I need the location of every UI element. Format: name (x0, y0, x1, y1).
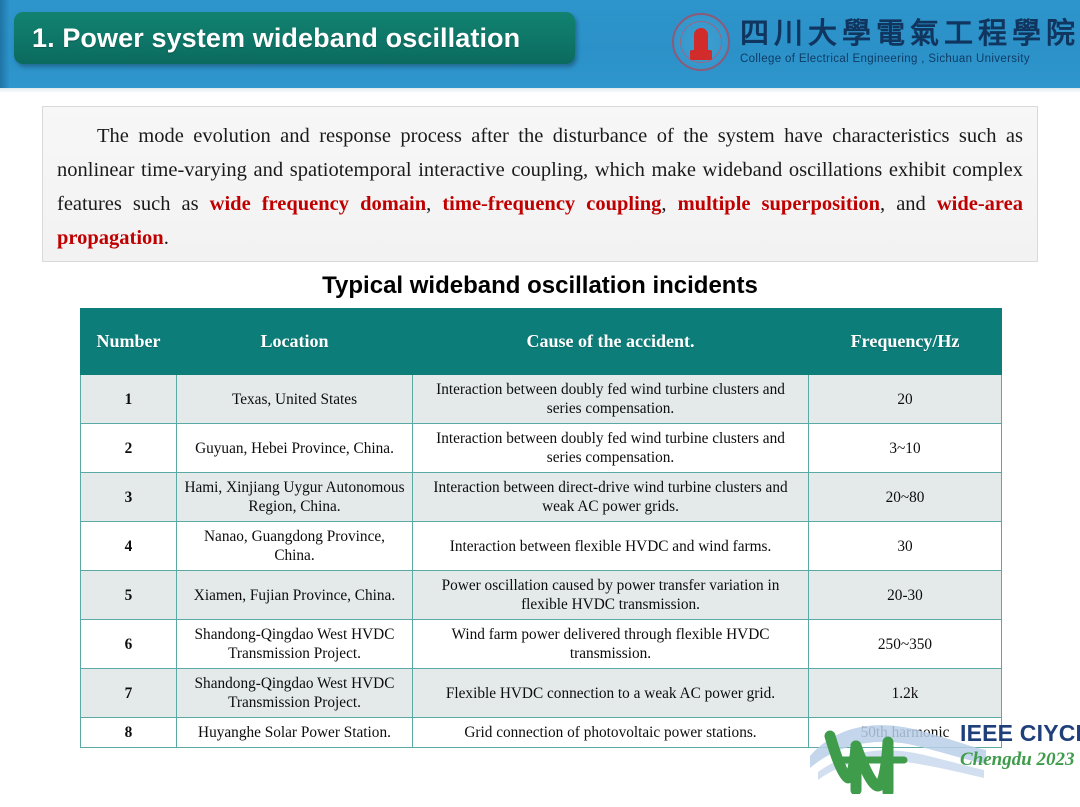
university-name-block: 四川大學電氣工程學院 College of Electrical Enginee… (730, 19, 1080, 64)
cell-location: Shandong-Qingdao West HVDC Transmission … (177, 669, 413, 718)
section-title-box: 1. Power system wideband oscillation (14, 12, 575, 64)
intro-paragraph: The mode evolution and response process … (57, 119, 1023, 255)
table-title: Typical wideband oscillation incidents (0, 272, 1080, 300)
slide-canvas: 1. Power system wideband oscillation 四川大… (0, 0, 1080, 807)
cell-number: 4 (81, 522, 177, 571)
highlight-multiple-superposition: multiple superposition (678, 193, 880, 215)
cell-frequency: 20-30 (809, 571, 1002, 620)
highlight-time-frequency-coupling: time-frequency coupling (442, 193, 661, 215)
paragraph-end: . (164, 227, 169, 249)
cell-number: 1 (81, 375, 177, 424)
university-name-en: College of Electrical Engineering , Sich… (740, 53, 1080, 65)
col-header-cause: Cause of the accident. (413, 309, 809, 375)
highlight-wide-frequency-domain: wide frequency domain (210, 193, 426, 215)
incidents-table: Number Location Cause of the accident. F… (80, 308, 1002, 748)
cell-location: Hami, Xinjiang Uygur Autonomous Region, … (177, 473, 413, 522)
cell-number: 8 (81, 718, 177, 748)
cell-location: Nanao, Guangdong Province, China. (177, 522, 413, 571)
banner-shadow-strip (0, 88, 1080, 93)
cell-frequency: 250~350 (809, 620, 1002, 669)
cell-cause: Interaction between doubly fed wind turb… (413, 424, 809, 473)
paragraph-sep-1: , (426, 193, 442, 215)
table-row: 5 Xiamen, Fujian Province, China. Power … (81, 571, 1002, 620)
cell-location: Guyuan, Hebei Province, China. (177, 424, 413, 473)
cell-cause: Grid connection of photovoltaic power st… (413, 718, 809, 748)
table-row: 1 Texas, United States Interaction betwe… (81, 375, 1002, 424)
paragraph-sep-3: , and (880, 193, 937, 215)
incidents-table-body: 1 Texas, United States Interaction betwe… (81, 375, 1002, 748)
banner-left-edge (0, 0, 9, 88)
paragraph-sep-2: , (661, 193, 677, 215)
col-header-location: Location (177, 309, 413, 375)
university-seal-icon (672, 13, 730, 71)
cell-location: Shandong-Qingdao West HVDC Transmission … (177, 620, 413, 669)
cell-cause: Interaction between doubly fed wind turb… (413, 375, 809, 424)
cell-frequency: 3~10 (809, 424, 1002, 473)
table-row: 2 Guyuan, Hebei Province, China. Interac… (81, 424, 1002, 473)
table-row: 4 Nanao, Guangdong Province, China. Inte… (81, 522, 1002, 571)
incidents-table-wrapper: Number Location Cause of the accident. F… (80, 308, 1001, 748)
conference-name: IEEE CIYCEE (960, 720, 1072, 747)
cell-location: Texas, United States (177, 375, 413, 424)
col-header-number: Number (81, 309, 177, 375)
cell-location: Huyanghe Solar Power Station. (177, 718, 413, 748)
cell-number: 7 (81, 669, 177, 718)
conference-logo-text: IEEE CIYCEE Chengdu 2023 (960, 720, 1072, 771)
cell-number: 2 (81, 424, 177, 473)
cell-number: 5 (81, 571, 177, 620)
conference-logo: IEEE CIYCEE Chengdu 2023 (800, 706, 1072, 802)
page-title: 1. Power system wideband oscillation (14, 23, 520, 54)
col-header-frequency: Frequency/Hz (809, 309, 1002, 375)
table-row: 3 Hami, Xinjiang Uygur Autonomous Region… (81, 473, 1002, 522)
seal-figure-icon (694, 28, 708, 60)
conference-city-year: Chengdu 2023 (960, 749, 1072, 771)
intro-paragraph-box: The mode evolution and response process … (42, 106, 1038, 262)
cell-location: Xiamen, Fujian Province, China. (177, 571, 413, 620)
cell-number: 6 (81, 620, 177, 669)
cell-cause: Interaction between direct-drive wind tu… (413, 473, 809, 522)
cell-frequency: 30 (809, 522, 1002, 571)
cell-frequency: 20 (809, 375, 1002, 424)
cell-frequency: 20~80 (809, 473, 1002, 522)
cell-cause: Wind farm power delivered through flexib… (413, 620, 809, 669)
university-logo: 四川大學電氣工程學院 College of Electrical Enginee… (672, 6, 1072, 78)
table-header-row: Number Location Cause of the accident. F… (81, 309, 1002, 375)
university-name-cn: 四川大學電氣工程學院 (740, 19, 1080, 49)
cell-cause: Interaction between flexible HVDC and wi… (413, 522, 809, 571)
cell-number: 3 (81, 473, 177, 522)
cell-cause: Flexible HVDC connection to a weak AC po… (413, 669, 809, 718)
header-banner: 1. Power system wideband oscillation 四川大… (0, 0, 1080, 88)
table-row: 6 Shandong-Qingdao West HVDC Transmissio… (81, 620, 1002, 669)
cell-cause: Power oscillation caused by power transf… (413, 571, 809, 620)
